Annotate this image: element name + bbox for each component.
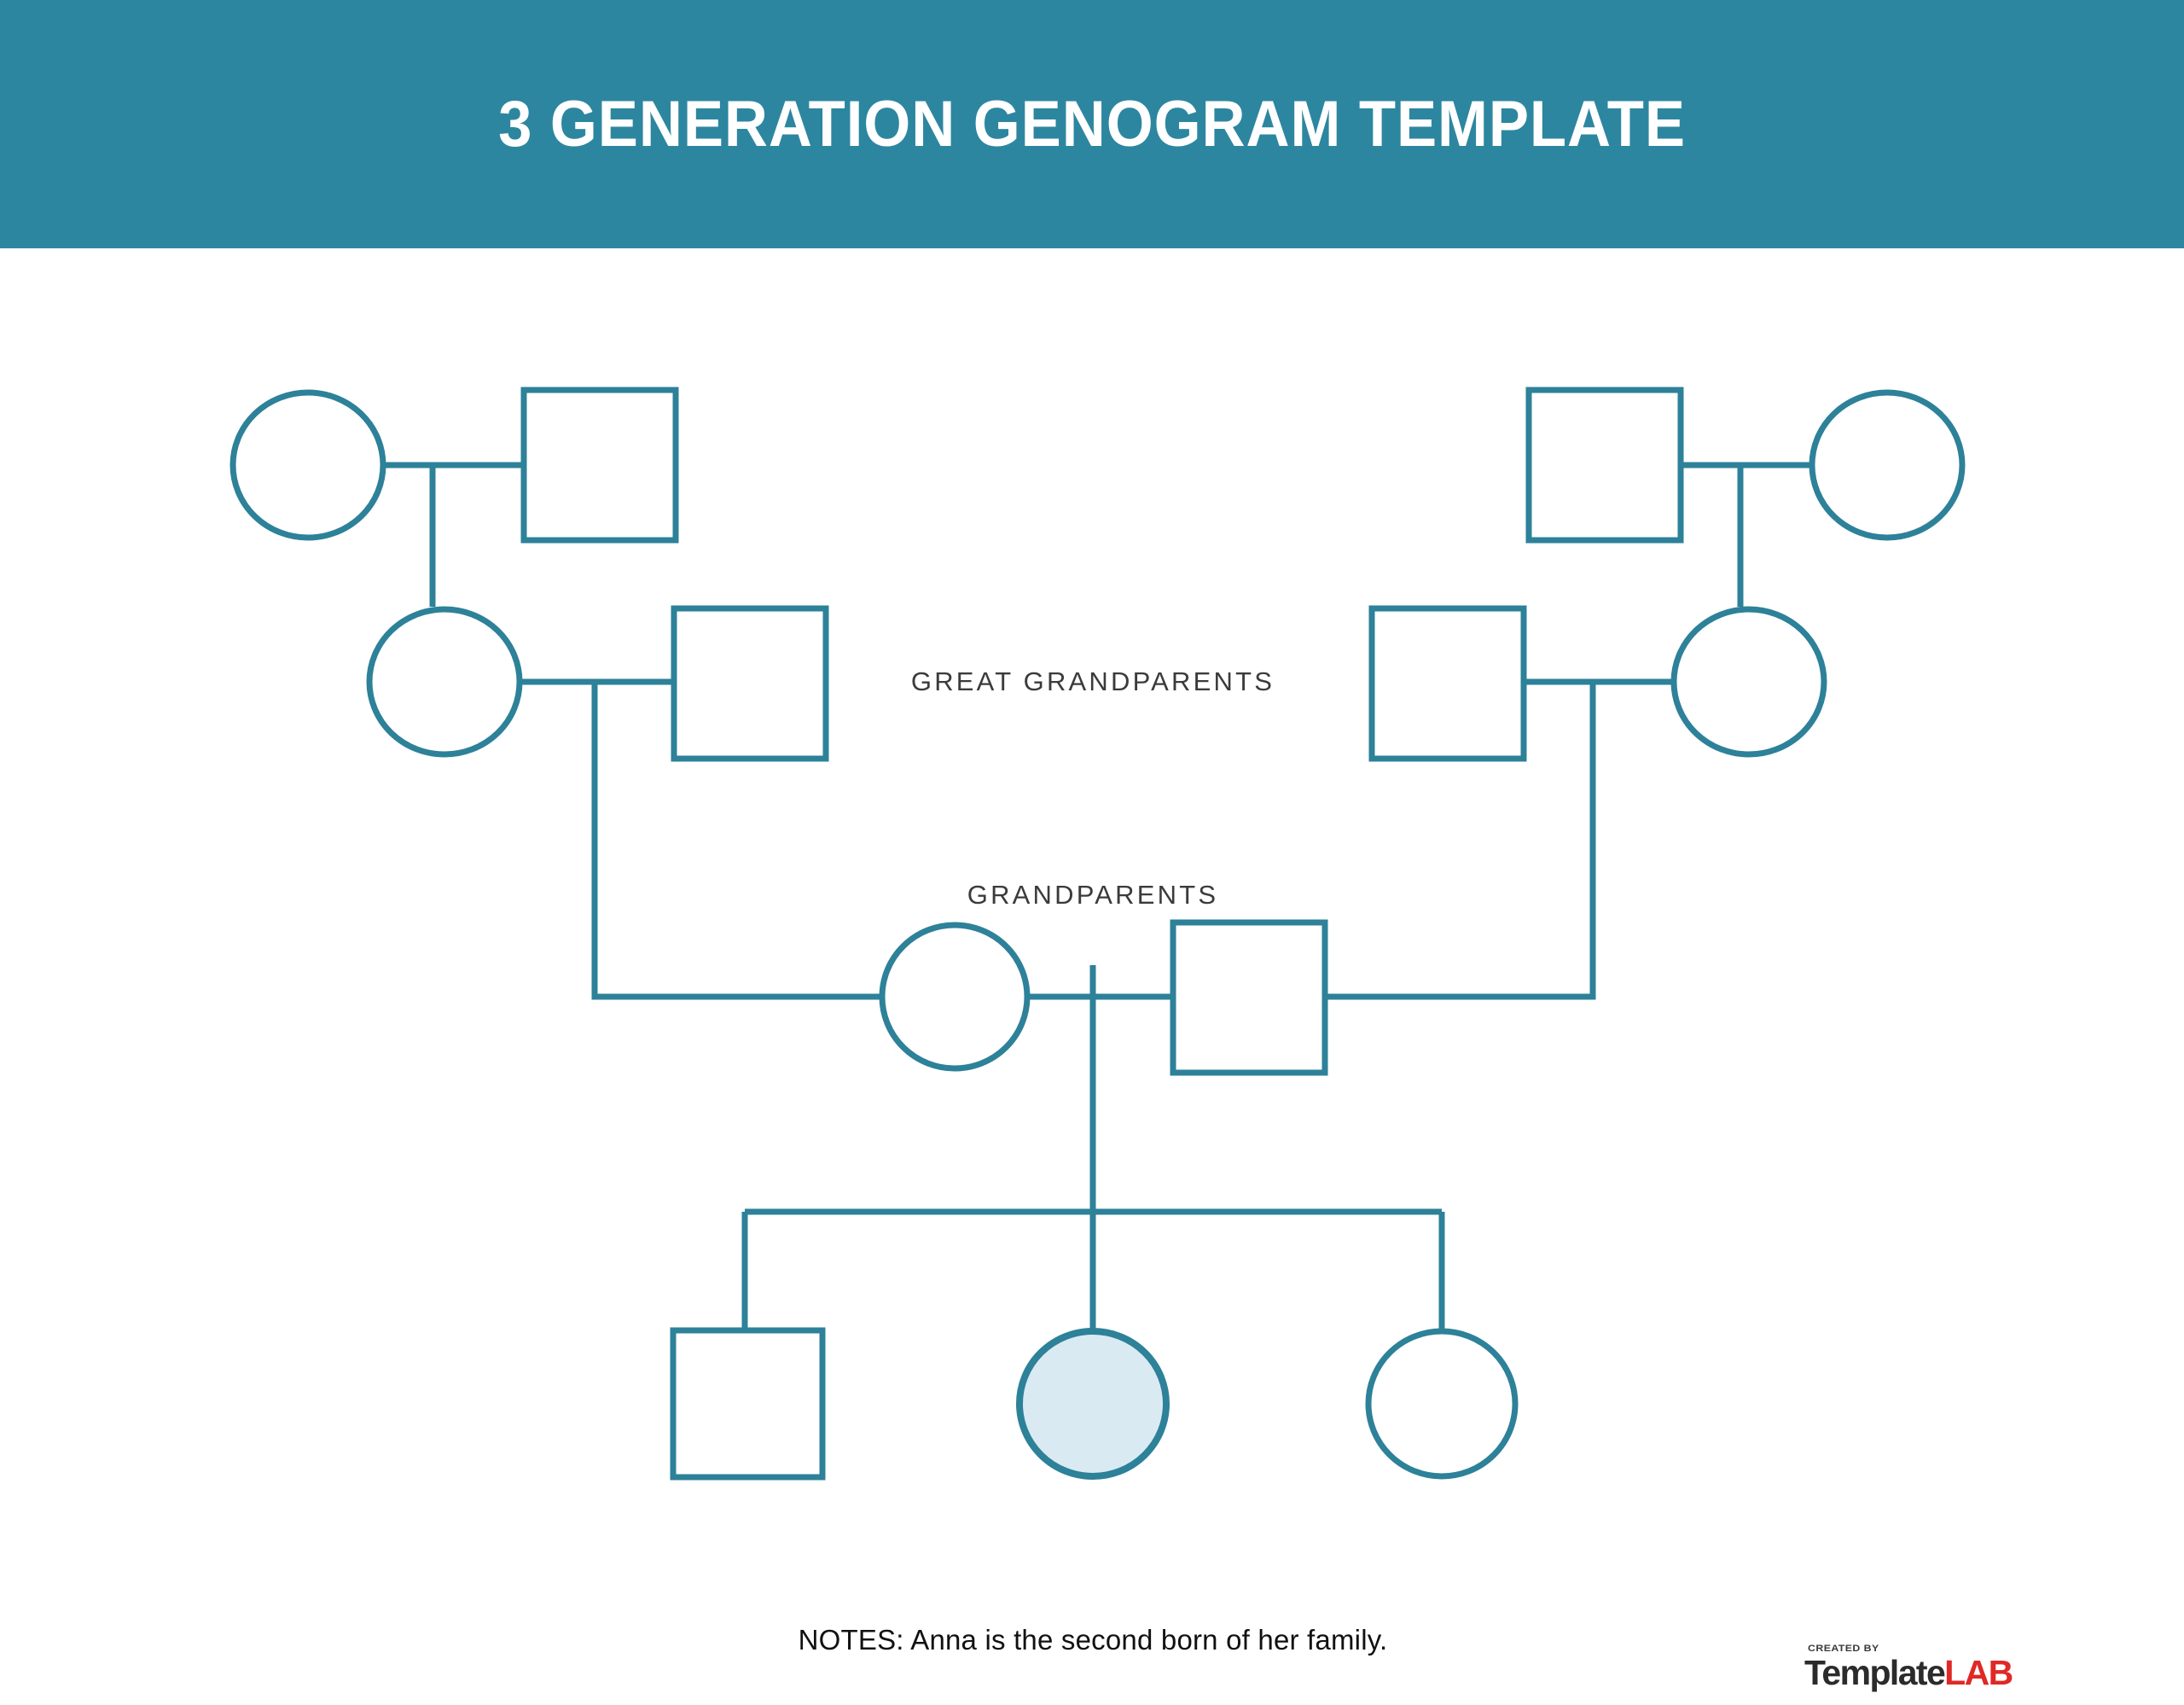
node-grandmother-paternal[interactable] [1674, 609, 1824, 754]
node-great-grandmother-paternal[interactable] [1812, 393, 1962, 538]
node-child-2-index-person[interactable] [1019, 1331, 1166, 1476]
node-mother[interactable] [882, 925, 1027, 1068]
label-great-grandparents: GREAT GRANDPARENTS [911, 666, 1275, 697]
node-child-1-male[interactable] [673, 1330, 822, 1477]
node-great-grandfather-paternal[interactable] [1529, 390, 1681, 540]
templatelab-logo: CREATED BY TemplateLAB [1804, 1644, 2018, 1705]
page-title: 3 GENERATION GENOGRAM TEMPLATE [77, 0, 2108, 248]
node-grandfather-maternal[interactable] [674, 608, 826, 759]
node-great-grandmother-maternal[interactable] [233, 393, 383, 538]
node-great-grandfather-maternal[interactable] [524, 390, 676, 540]
node-child-3-female[interactable] [1368, 1331, 1515, 1476]
label-grandparents: GRANDPARENTS [967, 880, 1218, 911]
node-father[interactable] [1173, 922, 1325, 1073]
header-band: 3 GENERATION GENOGRAM TEMPLATE [0, 0, 2184, 248]
logo-word-template: Template [1804, 1653, 1944, 1692]
logo-wordmark: TemplateLAB [1804, 1656, 2013, 1690]
node-grandmother-maternal[interactable] [369, 609, 520, 754]
node-grandfather-paternal[interactable] [1372, 608, 1524, 759]
genogram-diagram: GREAT GRANDPARENTS GRANDPARENTS NOTES: A… [0, 248, 2184, 1544]
logo-word-lab: LAB [1944, 1653, 2012, 1692]
notes-text: NOTES: Anna is the second born of her fa… [799, 1624, 1388, 1656]
